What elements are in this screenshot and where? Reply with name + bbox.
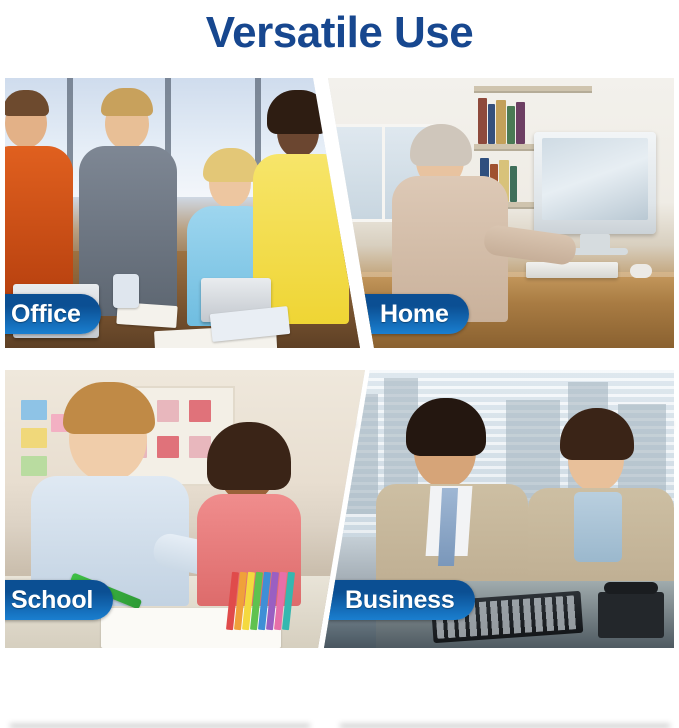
page-title: Versatile Use <box>0 2 679 64</box>
panel-shadow-school <box>10 724 310 728</box>
panel-business: Business <box>322 370 674 648</box>
panel-grid: Office <box>0 78 679 648</box>
panel-school: School <box>5 370 370 648</box>
panel-shadow-business <box>340 724 670 728</box>
panel-badge-school: School <box>5 580 113 620</box>
panel-badge-business-label: Business <box>345 588 455 613</box>
panel-home: Home <box>318 78 674 348</box>
panel-office: Office <box>5 78 363 348</box>
panel-badge-office-label: Office <box>11 302 81 327</box>
panel-badge-school-label: School <box>11 588 93 613</box>
panel-badge-business: Business <box>327 580 475 620</box>
panel-badge-home: Home <box>362 294 469 334</box>
versatile-use-poster: Versatile Use <box>0 0 679 648</box>
panel-badge-office: Office <box>5 294 101 334</box>
panel-badge-home-label: Home <box>380 302 449 327</box>
